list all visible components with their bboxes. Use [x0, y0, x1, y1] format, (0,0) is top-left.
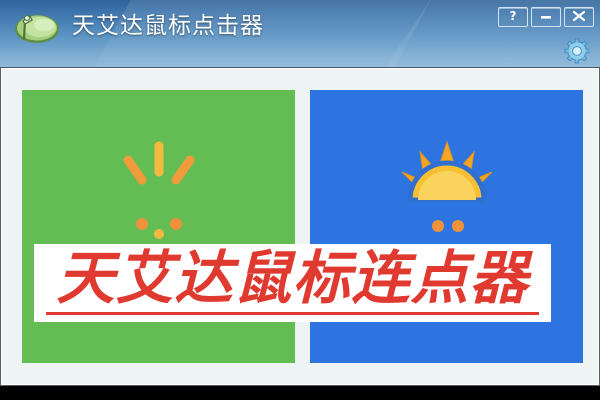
gear-icon[interactable]: [564, 38, 590, 64]
green-mouse-icon: [10, 11, 62, 45]
watermark-banner: 天艾达鼠标连点器: [34, 244, 551, 322]
window-controls: ?: [498, 7, 594, 27]
title-bar[interactable]: 天艾达鼠标点击器 ?: [0, 0, 600, 67]
mode-panel-simple[interactable]: 简单模式: [22, 90, 295, 363]
watermark-underline: [46, 312, 539, 315]
close-button[interactable]: [564, 7, 594, 27]
watermark-text: 天艾达鼠标连点器: [56, 245, 528, 311]
titlebar-sheen-bottom: [0, 44, 600, 67]
page-title: 天艾达鼠标点击器: [72, 11, 264, 42]
minimize-button[interactable]: [531, 7, 561, 27]
window-body: 简单模式 脚本模式: [0, 67, 600, 386]
help-button[interactable]: ?: [498, 7, 528, 27]
application-window: 天艾达鼠标点击器 ?: [0, 0, 600, 386]
sun-icon: [392, 138, 502, 248]
mode-panel-script[interactable]: 脚本模式: [310, 90, 583, 363]
svg-text:?: ?: [510, 9, 517, 23]
burst-rays-icon: [104, 138, 214, 248]
